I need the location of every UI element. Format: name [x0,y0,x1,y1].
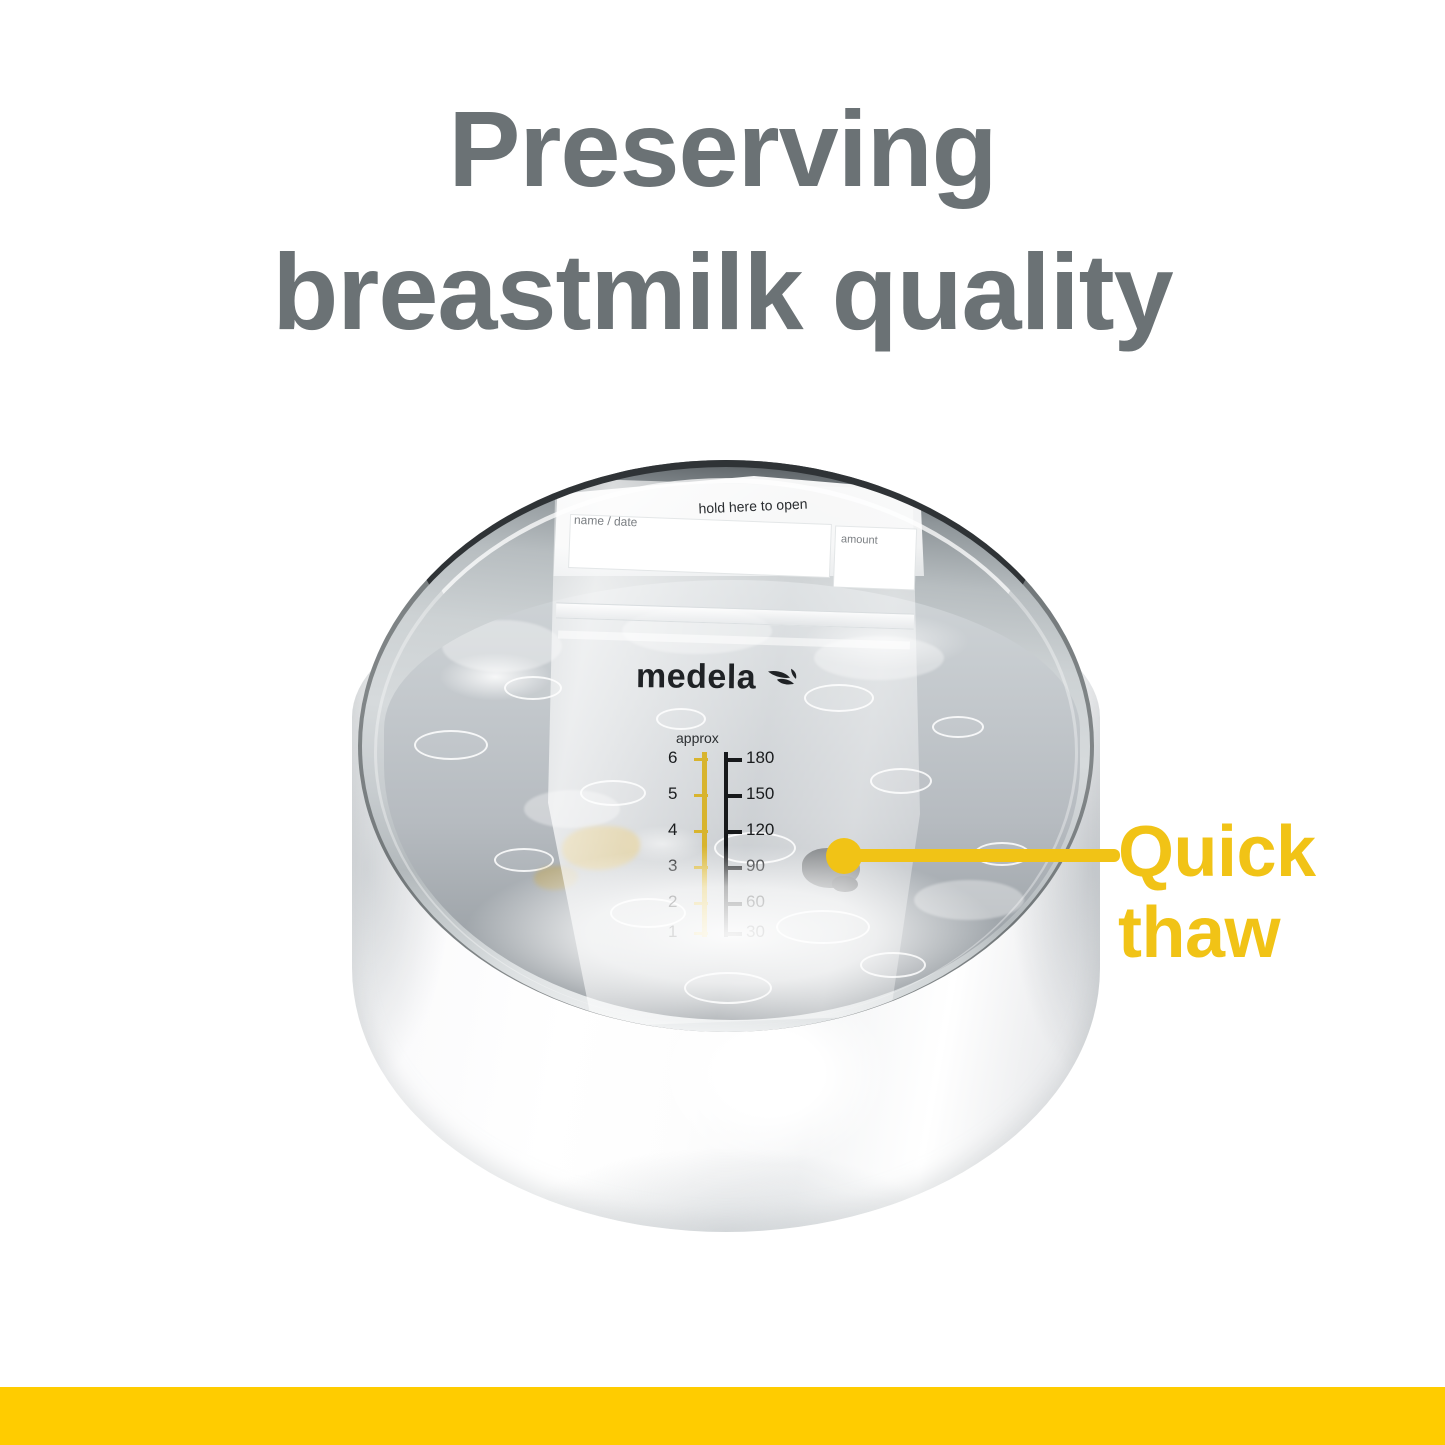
product-feature-image: Preserving breastmilk quality [0,0,1445,1445]
scale-ml-label: 30 [746,922,765,942]
scale-oz-label: 6 [668,748,677,768]
scale-ml-label: 90 [746,856,765,876]
scale-oz-label: 4 [668,820,677,840]
callout-label: Quick thaw [1118,812,1418,973]
bag-name-date-label: name / date [574,513,638,529]
medela-logo: medela [636,657,801,698]
bottom-accent-bar [0,1387,1445,1445]
scale-ml-label: 180 [746,748,774,768]
scale-oz-label: 3 [668,856,677,876]
scale-approx-label: approx [676,730,719,746]
scale-oz-label: 5 [668,784,677,804]
stainless-steel-bowl: hold here to open name / date amount med… [352,452,1100,1234]
measurement-scale: approx 6 5 4 3 2 1 [658,746,788,956]
scale-ml-label: 120 [746,820,774,840]
medela-wordmark: medela [636,657,757,697]
scale-ml-label: 60 [746,892,765,912]
scale-oz-label: 2 [668,892,677,912]
callout-leader-dot [826,838,862,874]
scale-axis-oz [702,752,707,937]
scale-axis-ml [724,752,728,937]
page-title: Preserving breastmilk quality [0,78,1445,363]
callout-leader-line [848,849,1120,862]
scale-ml-label: 150 [746,784,774,804]
medela-leaf-icon [766,666,800,690]
scale-oz-label: 1 [668,922,677,942]
bowl-interior: hold here to open name / date amount med… [358,460,1094,1032]
bag-amount-label: amount [841,533,878,546]
